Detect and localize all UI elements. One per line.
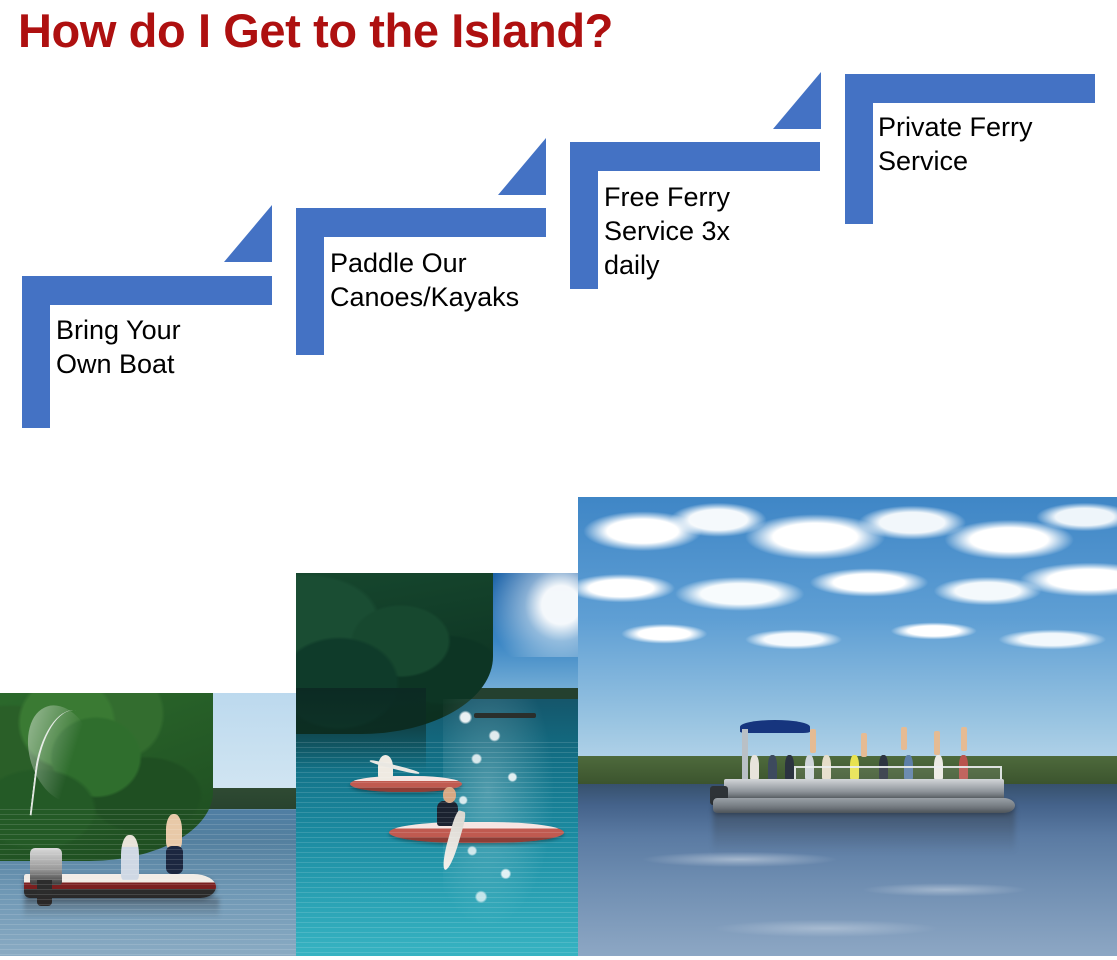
step-2-left-arm — [296, 208, 324, 355]
photo-kayakers-scene — [296, 573, 578, 956]
step-4-top-arm — [845, 74, 1095, 103]
step-2-to-3-up-right-triangle-icon — [498, 138, 546, 195]
waving-arm — [901, 727, 907, 751]
waving-arm — [810, 729, 816, 753]
step-3-to-4-up-right-triangle-icon — [773, 72, 821, 129]
staircase-step-4-label: Private Ferry Service — [878, 110, 1103, 178]
water-ripples — [0, 809, 296, 956]
passenger — [768, 755, 777, 779]
bimini-support — [742, 729, 748, 779]
photo-kayakers-on-lake[interactable]: Two paddlers in red kayaks on sparkling … — [296, 573, 578, 956]
cumulus-clouds — [578, 497, 1117, 782]
step-3-top-arm — [570, 142, 820, 171]
step-1-top-arm — [22, 276, 272, 305]
photo-pontoon-scene — [578, 497, 1117, 956]
page-title: How do I Get to the Island? — [18, 2, 613, 60]
distant-dock — [474, 713, 536, 718]
photo-bass-boat-scene — [0, 693, 296, 956]
staircase-step-2-label: Paddle Our Canoes/Kayaks — [330, 246, 560, 314]
step-1-to-2-up-right-triangle-icon — [224, 205, 272, 262]
photo-pontoon-boat-group[interactable]: A group of people waving from a pontoon … — [578, 497, 1117, 956]
waving-arm — [861, 733, 867, 757]
staircase-step-1-label: Bring Your Own Boat — [56, 313, 271, 381]
slide-canvas: How do I Get to the Island? Bring Your O… — [0, 0, 1117, 960]
boat-reflection — [713, 811, 1015, 852]
staircase-step-3-label: Free Ferry Service 3x daily — [604, 180, 819, 282]
photo-bass-boat-fishing[interactable]: Two people fishing from a bass boat besi… — [0, 693, 296, 956]
sun-flare — [488, 573, 578, 657]
step-1-left-arm — [22, 276, 50, 428]
waving-arm — [961, 727, 967, 751]
step-2-top-arm — [296, 208, 546, 237]
bimini-top — [740, 720, 810, 734]
step-3-left-arm — [570, 142, 598, 289]
step-4-left-arm — [845, 74, 873, 224]
water-ripples — [296, 742, 578, 956]
waving-arm — [934, 731, 940, 755]
passenger — [750, 755, 759, 779]
